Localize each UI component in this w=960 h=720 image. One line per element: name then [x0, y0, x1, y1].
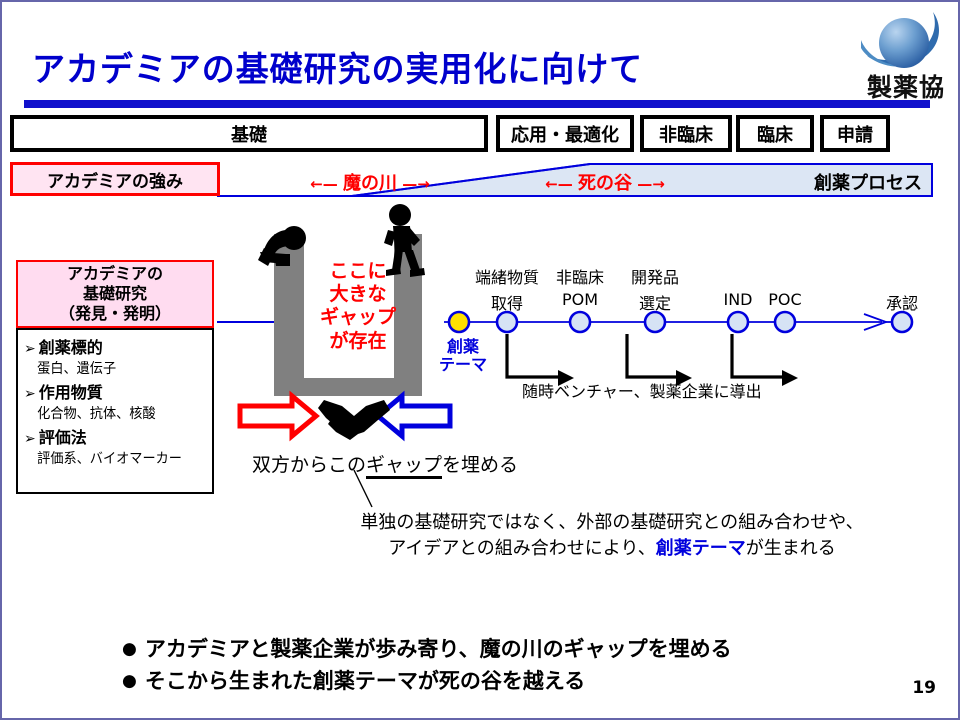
band-gap-text-1: 魔の川 [343, 173, 397, 194]
timeline-label-bottom: POM [538, 290, 622, 309]
explanatory-note: 単独の基礎研究ではなく、外部の基礎研究との組み合わせや、 アイデアとの組み合わせ… [282, 510, 942, 562]
licensing-note: 随時ベンチャー、製薬企業に導出 [522, 378, 762, 402]
theme-label-line-1: 創薬 [434, 338, 492, 356]
timeline-node-milestone [775, 312, 795, 332]
process-band-label: 創薬プロセス [814, 169, 922, 195]
band-gap-text-2: 死の谷 [578, 173, 632, 194]
timeline-node-milestone [892, 312, 912, 332]
summary-bullet-text: そこから生まれた創薬テーマが死の谷を越える [145, 669, 585, 693]
gap-callout-line-4: が存在 [312, 330, 404, 353]
fill-the-gap-caption: 双方からこのギャップを埋める [252, 450, 518, 477]
band-gap-label-1: ←— 魔の川 —→ [310, 169, 430, 195]
slide-canvas: アカデミアの基礎研究の実用化に向けて 製薬協 基礎応用・最適化非臨床臨床申請 ア… [0, 0, 960, 720]
band-gap-label-2: ←— 死の谷 —→ [490, 169, 720, 195]
academia-strength-badge: アカデミアの強み [10, 162, 220, 196]
drug-discovery-theme-label: 創薬 テーマ [434, 338, 492, 375]
note-line-2-post: が生まれる [746, 538, 836, 559]
timeline-label-bottom: POC [743, 290, 827, 309]
timeline-node-milestone [497, 312, 517, 332]
timeline-label-bottom: 取得 [465, 290, 549, 314]
note-line-2-highlight: 創薬テーマ [656, 538, 746, 559]
timeline-node-milestone [728, 312, 748, 332]
timeline-node-milestone [645, 312, 665, 332]
fill-caption-prefix: 双方からこの [252, 454, 366, 476]
note-line-1: 単独の基礎研究ではなく、外部の基礎研究との組み合わせや、 [282, 510, 942, 536]
bullet-dot-icon: ● [122, 671, 137, 691]
timeline-label-top: 開発品 [609, 264, 701, 288]
timeline-node-theme [449, 312, 469, 332]
gap-callout-text: ここに大きなギャップが存在 [312, 260, 404, 353]
fill-caption-underlined: ギャップ [366, 454, 442, 479]
fill-caption-suffix: を埋める [442, 454, 518, 476]
timeline-label-bottom: 承認 [860, 290, 944, 314]
note-line-2-pre: アイデアとの組み合わせにより、 [388, 538, 655, 559]
gap-callout-line-3: ギャップ [312, 306, 404, 329]
note-line-2: アイデアとの組み合わせにより、創薬テーマが生まれる [282, 536, 942, 562]
bullet-dot-icon: ● [122, 639, 137, 659]
gap-callout-line-2: 大きな [312, 283, 404, 306]
red-converge-arrow [240, 396, 316, 436]
licensing-brackets [507, 334, 784, 377]
gap-callout-line-1: ここに [312, 260, 404, 283]
summary-bullet-text: アカデミアと製薬企業が歩み寄り、魔の川のギャップを埋める [145, 637, 732, 661]
summary-bullet: ●そこから生まれた創薬テーマが死の谷を越える [122, 666, 732, 698]
page-number: 19 [912, 678, 936, 698]
summary-bullet: ●アカデミアと製薬企業が歩み寄り、魔の川のギャップを埋める [122, 634, 732, 666]
timeline-node-milestone [570, 312, 590, 332]
summary-bullets: ●アカデミアと製薬企業が歩み寄り、魔の川のギャップを埋める●そこから生まれた創薬… [122, 634, 732, 697]
blue-converge-arrow [378, 396, 450, 436]
timeline-label-bottom: 選定 [613, 290, 697, 314]
theme-label-line-2: テーマ [434, 356, 492, 374]
